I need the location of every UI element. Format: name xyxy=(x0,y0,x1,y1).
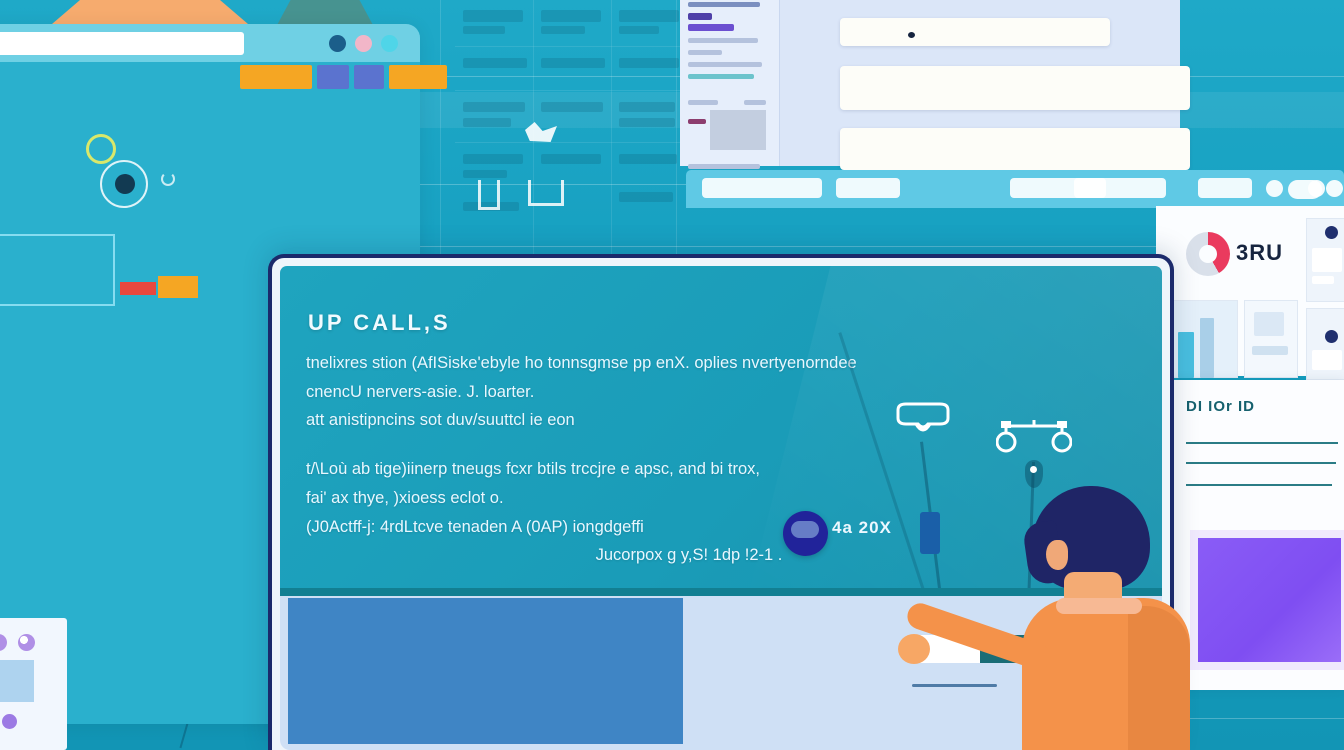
pole-knob-dot xyxy=(1030,466,1037,473)
sidebar-line xyxy=(688,38,758,43)
cursor-icon xyxy=(908,32,915,38)
document-sidebar xyxy=(680,0,780,166)
grid-card-cell xyxy=(541,102,603,112)
toolbar-pill-4[interactable] xyxy=(1074,178,1166,198)
sidebar-line xyxy=(688,100,718,105)
illustration-canvas: 3RU DI IOr ID UP CALL,S xyxy=(0,0,1344,750)
grid-card-cell xyxy=(619,118,675,127)
browser-tab-3[interactable] xyxy=(354,65,384,89)
card-rule xyxy=(1186,462,1336,464)
toolbar-icon-3[interactable] xyxy=(1308,180,1325,197)
dashboard-bar-1 xyxy=(1178,332,1194,378)
sidebar-line xyxy=(688,13,712,20)
sidebar-line xyxy=(688,50,722,55)
shirt-collar xyxy=(1056,598,1142,614)
sidebar-line xyxy=(688,24,734,31)
status-badge-icon[interactable] xyxy=(783,511,828,556)
donut-chart-label: 3RU xyxy=(1236,240,1283,266)
sidebar-line xyxy=(688,2,760,7)
document-input-row[interactable] xyxy=(840,18,1110,46)
grid-card-cell xyxy=(463,118,511,127)
grid-card-cell xyxy=(463,102,525,112)
grid-divider xyxy=(455,90,695,91)
toolbar-pill-2[interactable] xyxy=(836,178,900,198)
card-rule xyxy=(1186,442,1338,444)
document-input-row[interactable] xyxy=(840,128,1190,170)
window-control-dots[interactable] xyxy=(329,35,398,52)
window-dot-3[interactable] xyxy=(381,35,398,52)
grid-card-cell xyxy=(541,10,601,22)
keyboard-left-block xyxy=(288,598,683,744)
grid-card-cell xyxy=(541,58,605,68)
browser-tab-4[interactable] xyxy=(389,65,447,89)
browser-tab-2[interactable] xyxy=(317,65,349,89)
dashboard-chip xyxy=(1312,350,1342,370)
card-accent-dot xyxy=(2,714,17,729)
card-title: DI IOr ID xyxy=(1186,398,1255,415)
grid-card-cell xyxy=(463,58,527,68)
card-dot-2 xyxy=(18,634,35,651)
dark-dot-icon xyxy=(115,174,135,194)
grid-card-cell xyxy=(619,10,679,22)
dashboard-chip xyxy=(1254,312,1284,336)
status-bar-red xyxy=(120,282,156,295)
sidebar-line xyxy=(688,119,706,124)
status-badge-label: 4a 20X xyxy=(832,518,892,538)
keyboard-line-1 xyxy=(912,684,997,687)
outline-panel-box xyxy=(0,234,115,306)
white-abstract-glyph-2 xyxy=(478,180,500,210)
sidebar-line xyxy=(688,164,760,169)
hand xyxy=(898,634,930,664)
window-dot-2[interactable] xyxy=(355,35,372,52)
document-input-row[interactable] xyxy=(840,66,1190,110)
yellow-ring-icon xyxy=(86,134,116,164)
ear xyxy=(1046,540,1068,570)
dashboard-dot xyxy=(1325,226,1338,239)
grid-card-cell xyxy=(541,154,601,164)
right-toolbar-strip[interactable] xyxy=(686,170,1344,208)
grid-card-cell xyxy=(619,102,675,112)
browser-tab-1[interactable] xyxy=(240,65,312,89)
refresh-arc-icon xyxy=(161,172,175,186)
grid-card-cell xyxy=(619,26,659,34)
grid-card-cell xyxy=(619,192,673,202)
bottom-left-card[interactable] xyxy=(0,618,67,750)
toolbar-icon-1[interactable] xyxy=(1266,180,1283,197)
document-form-window[interactable] xyxy=(680,0,1180,166)
toolbar-search-pill[interactable] xyxy=(702,178,822,198)
grid-card-cell xyxy=(463,26,505,34)
status-bar-orange xyxy=(158,276,198,298)
browser-tab-strip[interactable] xyxy=(240,65,447,89)
toolbar-icon-4[interactable] xyxy=(1326,180,1343,197)
grid-card-cell xyxy=(541,26,585,34)
small-blue-tab xyxy=(920,512,940,554)
dashboard-chip xyxy=(1252,346,1288,355)
screen-heading: UP CALL,S xyxy=(308,310,451,336)
sidebar-thumb xyxy=(710,110,766,150)
torso-shadow xyxy=(1128,606,1190,750)
sidebar-line xyxy=(688,74,754,79)
browser-url-bar[interactable] xyxy=(0,32,244,55)
sidebar-line xyxy=(744,100,766,105)
grid-divider xyxy=(455,142,695,143)
dashboard-chip xyxy=(1312,276,1334,284)
grid-divider xyxy=(455,46,695,47)
screen-line: tnelixres stion (AfISiske'ebyle ho tonns… xyxy=(306,350,1032,377)
purple-media-block[interactable] xyxy=(1190,530,1344,670)
teal-grid-card-overlay xyxy=(455,0,695,261)
screen-line: fai' ax thye, )xioess eclot o. xyxy=(306,485,1032,512)
dashboard-chip xyxy=(1312,248,1342,272)
grid-card-cell xyxy=(463,154,523,164)
card-dot-1 xyxy=(0,634,7,651)
donut-chart-icon xyxy=(1186,232,1230,276)
grid-card-cell xyxy=(463,10,523,22)
toolbar-pill-5[interactable] xyxy=(1198,178,1252,198)
window-dot-1[interactable] xyxy=(329,35,346,52)
white-abstract-glyph-3 xyxy=(528,180,564,206)
pole-knob-icon xyxy=(1025,460,1043,488)
card-thumbnail xyxy=(0,660,34,702)
dashboard-dot xyxy=(1325,330,1338,343)
sidebar-line xyxy=(688,62,762,67)
dashboard-bar-2 xyxy=(1200,318,1214,378)
vr-headset-icon xyxy=(892,400,954,446)
person-figure xyxy=(1000,486,1210,750)
grid-card-cell xyxy=(619,58,679,68)
grid-card-cell xyxy=(619,154,677,164)
grid-card-cell xyxy=(463,170,507,178)
grid-divider xyxy=(611,0,612,261)
